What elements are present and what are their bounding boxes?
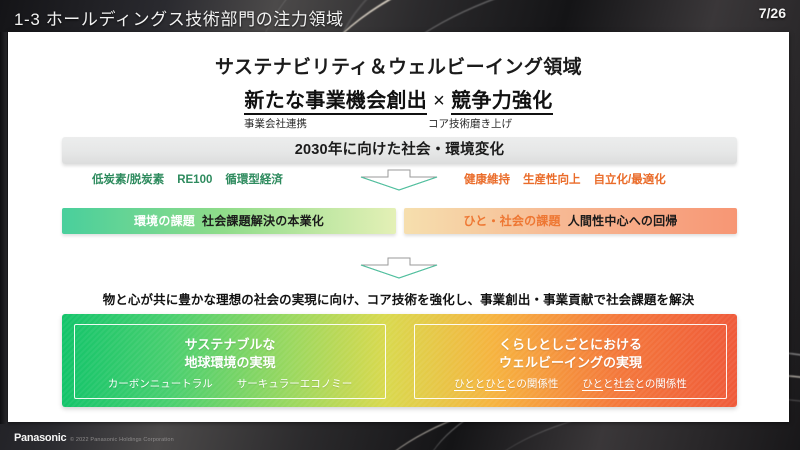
goal-subitem-key: 社会: [614, 378, 635, 391]
goal-title: サステナブルな 地球環境の実現: [75, 336, 385, 372]
challenge-tag: ひと・社会の課題: [463, 214, 560, 228]
goal-subitem: ひととひととの関係性: [442, 378, 570, 390]
caption-right: コア技術磨き上げ: [428, 116, 512, 131]
caption-left: 事業会社連携: [244, 116, 307, 131]
goal-title-line2: 地球環境の実現: [184, 355, 275, 370]
goal-subitem-tail: との関係性: [506, 378, 558, 390]
goal-subitem: ひとと社会との関係性: [570, 378, 699, 390]
keywords-left: 低炭素/脱炭素RE100循環型経済: [92, 171, 283, 187]
copyright-text: © 2022 Panasonic Holdings Corporation: [70, 437, 174, 443]
section-title: サステナビリティ＆ウェルビーイング領域: [8, 52, 789, 79]
slide: 1-3 ホールディングス技術部門の注力領域 7/26 サステナビリティ＆ウェルビ…: [0, 0, 800, 450]
down-arrow-icon: [358, 168, 440, 192]
goal-subitem: サーキュラーエコノミー: [225, 378, 365, 390]
goal-subitems: ひととひととの関係性ひとと社会との関係性: [415, 376, 726, 391]
goal-card-environment: サステナブルな 地球環境の実現 カーボンニュートラルサーキュラーエコノミー: [74, 324, 386, 399]
left-edge-bar: [0, 32, 7, 424]
challenge-text: 人間性中心への回帰: [568, 214, 678, 228]
goal-title-line2: ウェルビーイングの実現: [499, 355, 642, 370]
headline-operator: ×: [427, 90, 451, 112]
goals-panel: サステナブルな 地球環境の実現 カーボンニュートラルサーキュラーエコノミー くら…: [62, 314, 737, 407]
goal-subitem: カーボンニュートラル: [96, 378, 225, 390]
page-title: 1-3 ホールディングス技術部門の注力領域: [14, 5, 344, 30]
challenge-card-society: ひと・社会の課題人間性中心への回帰: [404, 208, 737, 234]
keyword-item: RE100: [177, 174, 225, 186]
challenge-tag: 環境の課題: [134, 214, 195, 228]
slide-canvas: サステナビリティ＆ウェルビーイング領域 新たな事業機会創出×競争力強化 事業会社…: [8, 32, 789, 422]
headline-row: 新たな事業機会創出×競争力強化: [8, 84, 789, 113]
goal-subitem-joiner: と: [603, 378, 614, 390]
keyword-item: 健康維持: [464, 174, 523, 186]
challenge-card-environment: 環境の課題社会課題解決の本業化: [62, 208, 396, 234]
panasonic-logo: Panasonic: [14, 432, 66, 444]
goal-title-line1: くらしとしごとにおける: [499, 337, 642, 352]
headline-right: 競争力強化: [451, 90, 553, 115]
keyword-item: 循環型経済: [225, 174, 283, 186]
headline-left: 新たな事業機会創出: [244, 90, 427, 115]
slide-footer: Panasonic © 2022 Panasonic Holdings Corp…: [0, 422, 800, 450]
page-number: 7/26: [759, 5, 786, 21]
goal-title: くらしとしごとにおける ウェルビーイングの実現: [415, 336, 726, 372]
goal-subitem-key: ひと: [454, 378, 475, 391]
keyword-item: 低炭素/脱炭素: [92, 174, 177, 186]
goal-subitems: カーボンニュートラルサーキュラーエコノミー: [75, 376, 385, 391]
challenge-text: 社会課題解決の本業化: [202, 214, 324, 228]
goal-title-line1: サステナブルな: [185, 337, 276, 352]
goal-subitem-tail: との関係性: [635, 378, 687, 390]
keywords-right: 健康維持生産性向上自立化/最適化: [464, 171, 666, 187]
vision-statement: 物と心が共に豊かな理想の社会の実現に向け、コア技術を強化し、事業創出・事業貢献で…: [8, 289, 789, 308]
keyword-item: 生産性向上: [523, 174, 594, 186]
keyword-item: 自立化/最適化: [594, 174, 666, 186]
trend-bar-label: 2030年に向けた社会・環境変化: [62, 137, 737, 164]
goal-subitem-key: ひと: [582, 378, 603, 391]
goal-subitem-key: ひと: [485, 378, 506, 391]
down-arrow-icon: [358, 256, 440, 280]
slide-header: 1-3 ホールディングス技術部門の注力領域 7/26: [0, 0, 800, 32]
goal-card-wellbeing: くらしとしごとにおける ウェルビーイングの実現 ひととひととの関係性ひとと社会と…: [414, 324, 727, 399]
trend-bar: 2030年に向けた社会・環境変化: [62, 137, 737, 164]
goal-subitem-joiner: と: [475, 378, 486, 390]
